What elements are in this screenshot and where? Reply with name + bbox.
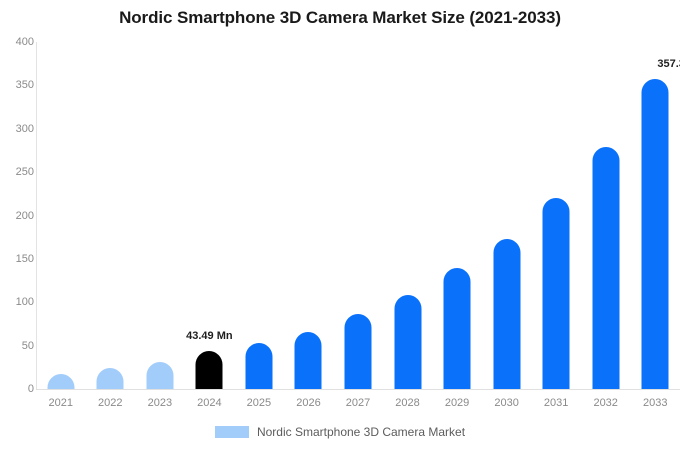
bar[interactable] [47,374,74,389]
chart-title: Nordic Smartphone 3D Camera Market Size … [0,8,680,28]
x-axis-tick-label: 2026 [296,397,320,409]
bar[interactable] [97,368,124,389]
x-axis-tick-label: 2031 [544,397,568,409]
y-axis-tick-label: 250 [0,166,34,178]
x-axis-tick-label: 2032 [593,397,617,409]
bar[interactable] [344,314,371,389]
bar-value-label: 357.37 Mn [657,58,680,70]
bar[interactable] [394,295,421,389]
legend-item-label: Nordic Smartphone 3D Camera Market [257,425,465,439]
bar-value-label: 43.49 Mn [186,330,232,342]
bar[interactable] [592,147,619,389]
bars-layer: 43.49 Mn357.37 Mn [36,42,680,389]
bar[interactable] [245,343,272,389]
bar[interactable] [444,268,471,389]
x-axis-tick-label: 2030 [494,397,518,409]
bar-slot [135,42,185,389]
bar-slot [284,42,334,389]
y-axis-tick-label: 100 [0,296,34,308]
x-axis-tick-label: 2025 [247,397,271,409]
bar-slot: 357.37 Mn [630,42,680,389]
chart-legend: Nordic Smartphone 3D Camera Market [0,425,680,439]
bar-slot [36,42,86,389]
x-axis-tick-label: 2023 [148,397,172,409]
bar[interactable] [543,198,570,389]
y-axis-tick-label: 200 [0,210,34,222]
y-axis-tick-label: 0 [0,383,34,395]
bar[interactable] [196,351,223,389]
x-axis-tick-label: 2028 [395,397,419,409]
bar-slot [432,42,482,389]
x-axis-tick-label: 2024 [197,397,221,409]
bar[interactable] [295,332,322,389]
y-axis-tick-label: 150 [0,253,34,265]
x-axis-tick-label: 2029 [445,397,469,409]
bar[interactable] [146,362,173,389]
y-axis-tick-label: 50 [0,340,34,352]
bar-slot [383,42,433,389]
y-axis-tick-label: 400 [0,36,34,48]
bar-slot [333,42,383,389]
x-axis-tick-label: 2021 [49,397,73,409]
bar-slot [234,42,284,389]
x-axis-baseline [36,389,680,390]
bar[interactable] [642,79,669,389]
bar-slot [86,42,136,389]
x-axis-tick-label: 2027 [346,397,370,409]
bar-slot [581,42,631,389]
plot-area: 050100150200250300350400 43.49 Mn357.37 … [36,42,680,389]
x-axis-tick-label: 2022 [98,397,122,409]
bar[interactable] [493,239,520,389]
y-axis-tick-label: 350 [0,79,34,91]
bar-slot [482,42,532,389]
legend-swatch-icon [215,426,249,438]
y-axis-tick-label: 300 [0,123,34,135]
bar-chart: Nordic Smartphone 3D Camera Market Size … [0,0,680,450]
bar-slot: 43.49 Mn [185,42,235,389]
bar-slot [531,42,581,389]
x-axis-tick-label: 2033 [643,397,667,409]
